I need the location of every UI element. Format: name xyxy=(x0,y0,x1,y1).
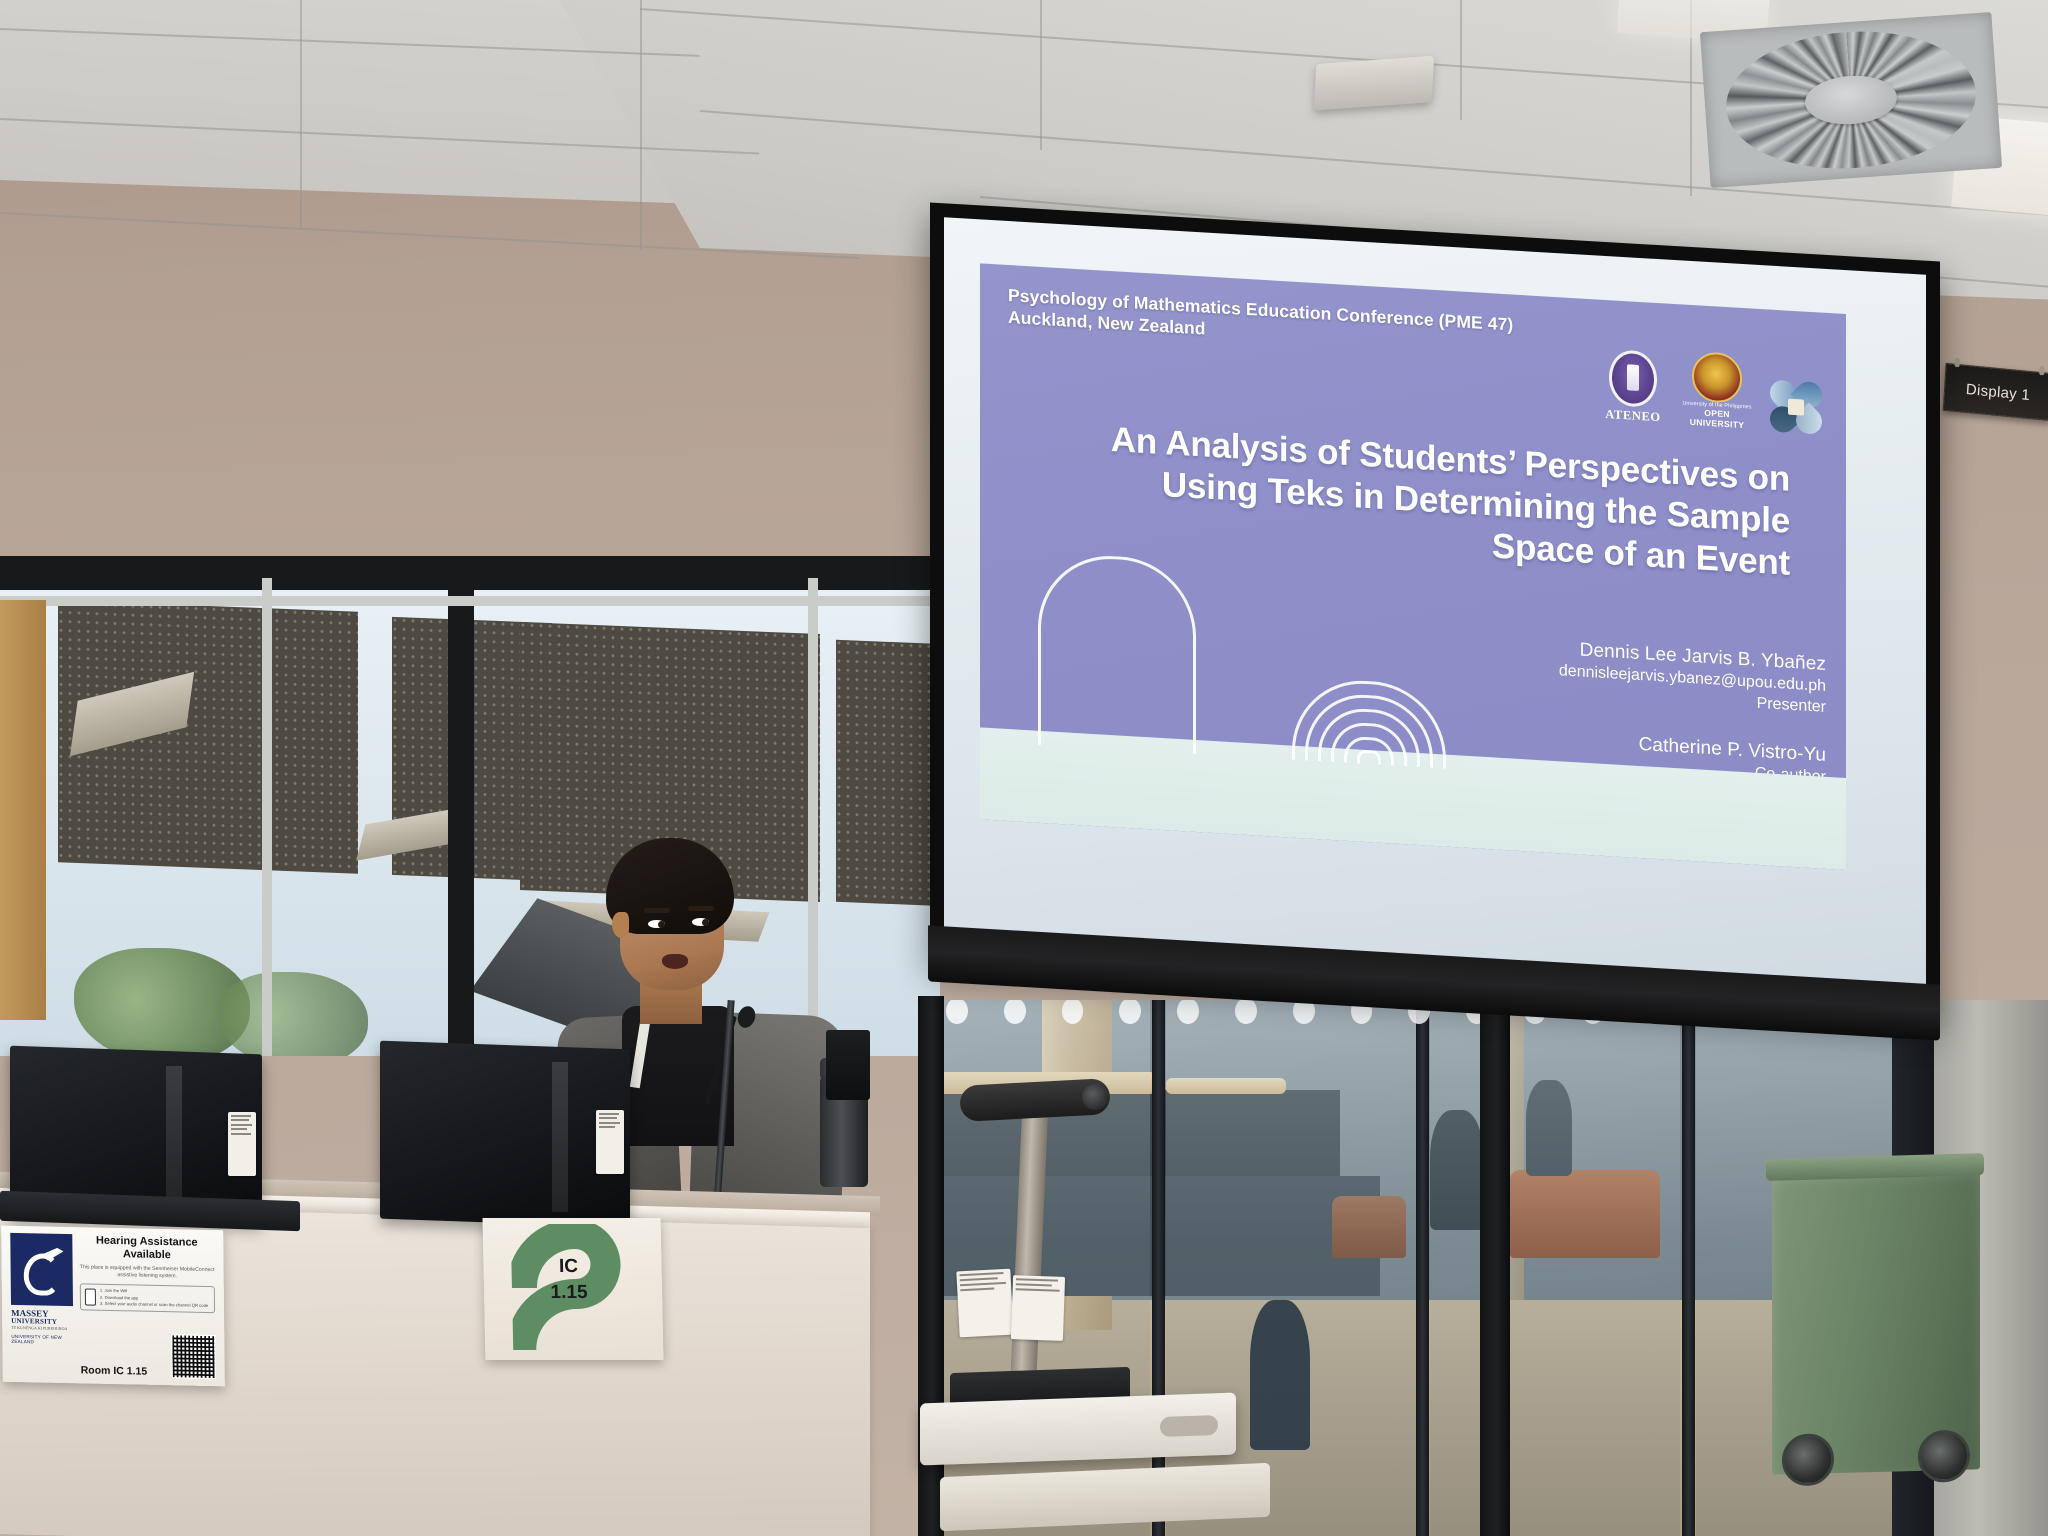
slide-logos: ATENEO University of the Philippines OPE… xyxy=(1602,346,1822,435)
sticker-line xyxy=(599,1122,620,1124)
wheelie-bin xyxy=(1772,1169,1980,1474)
window-mullion xyxy=(448,576,474,1056)
mouth xyxy=(662,954,688,969)
card-line xyxy=(1016,1278,1058,1281)
hearing-sign-title-2: Available xyxy=(79,1247,214,1263)
up-open-university-logo: University of the Philippines OPEN UNIVE… xyxy=(1678,350,1756,431)
card-line xyxy=(960,1282,1006,1286)
dot xyxy=(1004,1000,1026,1024)
clover-center-icon xyxy=(1788,399,1804,416)
wood-wall-panel xyxy=(0,600,46,1020)
qr-code xyxy=(171,1334,215,1379)
sticker-line xyxy=(599,1126,615,1128)
clover-logo xyxy=(1770,380,1822,435)
document-camera-lens xyxy=(1082,1084,1108,1110)
glass-mullion xyxy=(1682,1000,1695,1536)
sticker-line xyxy=(231,1115,251,1117)
hearing-sign-footer: Room IC 1.15 xyxy=(80,1332,215,1379)
massey-line3: TE KUNENGA KI PUREHUROA xyxy=(11,1326,73,1331)
desk-monitor-right[interactable] xyxy=(380,1041,630,1228)
sticker-line xyxy=(599,1113,619,1115)
card-line xyxy=(1016,1283,1052,1286)
pupil xyxy=(658,921,665,928)
room-sign: IC 1.15 xyxy=(482,1218,663,1360)
sign-left-column: MASSEY UNIVERSITY TE KUNENGA KI PUREHURO… xyxy=(10,1233,73,1376)
phone-icon xyxy=(85,1289,96,1306)
pupil xyxy=(702,919,709,926)
glass-mullion xyxy=(1416,1000,1429,1536)
window-transom xyxy=(0,596,940,606)
display-sign: Display 1 xyxy=(1943,363,2048,421)
door-frame-column xyxy=(1480,996,1510,1536)
ceiling-sensor xyxy=(1314,56,1434,111)
eyebrow xyxy=(644,908,670,913)
glass-pane xyxy=(1430,1000,1680,1536)
sign-right-column: Hearing Assistance Available This place … xyxy=(79,1234,215,1379)
projection-screen: Psychology of Mathematics Education Conf… xyxy=(930,202,1940,1021)
ceiling-tile-line xyxy=(1460,0,1462,120)
massey-university-logo: MASSEY UNIVERSITY TE KUNENGA KI PUREHURO… xyxy=(11,1309,73,1331)
sticker-line xyxy=(231,1133,251,1135)
ateneo-crest-icon xyxy=(1609,349,1657,408)
card-line xyxy=(960,1277,998,1281)
dot xyxy=(946,1000,968,1024)
window-mullion xyxy=(262,576,272,1056)
presentation-slide: Psychology of Mathematics Education Conf… xyxy=(980,263,1846,870)
slide-header: Psychology of Mathematics Education Conf… xyxy=(1008,285,1568,361)
step-3: 3. Select your audio channel or scan the… xyxy=(100,1301,208,1310)
card-line xyxy=(960,1287,994,1291)
ateneo-wordmark: ATENEO xyxy=(1602,407,1664,426)
ateneo-logo: ATENEO xyxy=(1602,349,1664,426)
hearing-sign-steps: 1. Join the Wifi 2. Download the app 3. … xyxy=(100,1288,208,1309)
hearing-assistance-sign: MASSEY UNIVERSITY TE KUNENGA KI PUREHURO… xyxy=(1,1226,225,1387)
hearing-sign-steps-box: 1. Join the Wifi 2. Download the app 3. … xyxy=(80,1284,215,1314)
bin-lid xyxy=(1766,1153,1984,1181)
equipment-label-card xyxy=(1011,1275,1065,1341)
sticker-line xyxy=(599,1117,617,1119)
window-head-frame xyxy=(0,556,940,578)
slide-arch-decoration xyxy=(1357,749,1381,764)
card-line xyxy=(959,1272,1003,1276)
ceiling-air-diffuser xyxy=(1700,12,2002,188)
room-sign-label: IC 1.15 xyxy=(533,1254,604,1305)
sticker-line xyxy=(231,1128,247,1130)
monitor-stand xyxy=(552,1062,568,1212)
dot xyxy=(1177,1000,1199,1024)
monitor-label-sticker xyxy=(228,1112,256,1176)
equipment-label-card xyxy=(956,1269,1013,1338)
ceiling-tile-line xyxy=(300,0,302,230)
eyebrow xyxy=(688,906,714,911)
conference-room-photo: Display 1 xyxy=(0,0,2048,1536)
ceiling-tile-line xyxy=(640,0,642,250)
massey-line4: UNIVERSITY OF NEW ZEALAND xyxy=(11,1334,73,1345)
slide-title: An Analysis of Students’ Perspectives on… xyxy=(1054,416,1790,585)
slide-arch-decoration xyxy=(1038,552,1196,754)
sticker-line xyxy=(231,1124,252,1126)
ear xyxy=(612,912,629,938)
sticker-line xyxy=(231,1119,249,1121)
auxiliary-monitor xyxy=(826,1030,870,1100)
display-sign-label: Display 1 xyxy=(1965,380,2030,403)
room-sign-line2: 1.15 xyxy=(534,1280,605,1306)
dot xyxy=(1235,1000,1257,1024)
card-line xyxy=(1016,1288,1060,1292)
dot xyxy=(1119,1000,1141,1024)
sign-pin xyxy=(2039,366,2045,375)
monitor-stand xyxy=(166,1066,182,1206)
hearing-sign-subtitle: This place is equipped with the Sennheis… xyxy=(80,1265,215,1282)
ceiling-tile-line xyxy=(1040,0,1042,150)
screen-surface: Psychology of Mathematics Education Conf… xyxy=(944,217,1926,1004)
sign-pin xyxy=(1954,358,1960,367)
document-camera-slot xyxy=(1160,1415,1218,1437)
hearing-sign-room: Room IC 1.15 xyxy=(81,1364,148,1377)
up-seal-icon xyxy=(1692,351,1742,404)
monitor-label-sticker xyxy=(596,1110,624,1174)
room-sign-line1: IC xyxy=(533,1254,604,1280)
ear-glyph-icon xyxy=(21,1247,61,1292)
dot xyxy=(1062,1000,1084,1024)
hearing-loop-icon xyxy=(10,1233,73,1306)
